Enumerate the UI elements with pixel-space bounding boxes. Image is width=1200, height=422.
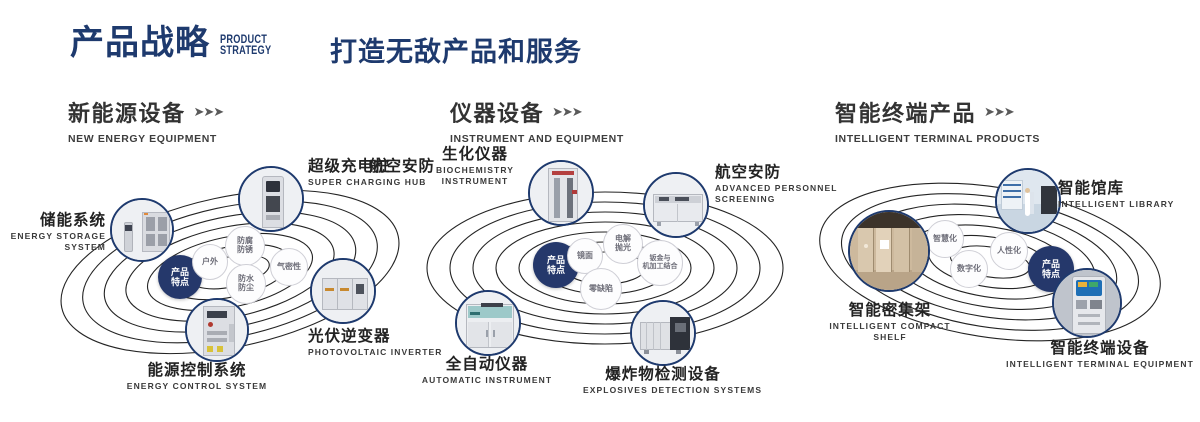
section-header-intelligent-terminal: 智能终端产品➤➤➤ INTELLIGENT TERMINAL PRODUCTS	[835, 96, 1040, 145]
node-compact-shelf[interactable]	[848, 210, 930, 292]
feature-bubble-sheetmetal: 钣金与 机加工结合	[637, 240, 683, 286]
label-energy-control: 能源控制系统 ENERGY CONTROL SYSTEM	[82, 362, 312, 392]
chevron-right-icon: ➤➤➤	[984, 104, 1014, 120]
security-gate-icon	[530, 162, 592, 224]
diagram-new-energy: 产品 特点 户外 防腐 防锈 气密性 防水 防尘 储能	[30, 150, 430, 395]
center-bubble-line1: 产品	[547, 255, 565, 265]
feature-bubble-anticorrosion: 防腐 防锈	[225, 226, 265, 266]
feature-label: 抛光	[615, 244, 631, 253]
diagram-instrument: 产品 特点 镜面 电解 抛光 钣金与 机加工结合 零缺陷 航空安防 生化仪器	[415, 150, 815, 395]
feature-bubble-waterproof: 防水 防尘	[226, 264, 266, 304]
label-explosives-detection: 爆炸物检测设备 EXPLOSIVES DETECTION SYSTEMS	[583, 366, 743, 396]
label-terminal-equipment: 智能终端设备 INTELLIGENT TERMINAL EQUIPMENT	[1000, 340, 1200, 370]
label-biochemistry-instrument: 生化仪器 BIOCHEMISTRY INSTRUMENT	[415, 146, 535, 186]
feature-bubble-airtightness: 气密性	[270, 248, 308, 286]
node-charging-hub[interactable]	[238, 166, 304, 232]
node-biochemistry-instrument[interactable]	[528, 160, 594, 226]
section-title-en: NEW ENERGY EQUIPMENT	[68, 133, 223, 145]
page-title-en-line2: STRATEGY	[220, 46, 271, 58]
center-bubble-line1: 产品	[1042, 259, 1060, 269]
feature-label: 数字化	[957, 265, 981, 274]
feature-bubble-humanized: 人性化	[990, 232, 1028, 270]
label-intelligent-library: 智能馆库 INTELLIGENT LIBRARY	[1058, 180, 1174, 210]
section-title-en: INTELLIGENT TERMINAL PRODUCTS	[835, 133, 1040, 145]
chevron-right-icon: ➤➤➤	[552, 104, 582, 120]
library-icon	[997, 170, 1059, 232]
section-title-cn: 新能源设备	[68, 96, 186, 128]
feature-bubble-zerodefect: 零缺陷	[580, 268, 622, 310]
compact-shelf-icon	[850, 212, 928, 290]
label-automatic-instrument: 全自动仪器 AUTOMATIC INSTRUMENT	[407, 356, 567, 386]
feature-label: 机加工结合	[643, 263, 678, 271]
kiosk-icon	[1054, 270, 1120, 336]
detector-icon	[632, 302, 694, 364]
inverter-icon	[312, 260, 374, 322]
node-personnel-screening[interactable]	[643, 172, 709, 238]
node-automatic-instrument[interactable]	[455, 290, 521, 356]
page-title: 产品战略 PRODUCT STRATEGY	[70, 26, 284, 60]
feature-label: 智慧化	[933, 235, 957, 244]
node-terminal-equipment[interactable]	[1052, 268, 1122, 338]
page-title-en: PRODUCT STRATEGY	[220, 35, 271, 58]
center-bubble-line1: 产品	[171, 267, 189, 277]
center-bubble-line2: 特点	[547, 265, 565, 275]
center-bubble-line2: 特点	[171, 277, 189, 287]
chevron-right-icon: ➤➤➤	[194, 104, 224, 120]
section-title-cn: 仪器设备	[450, 96, 544, 128]
auto-instrument-icon	[457, 292, 519, 354]
label-energy-storage: 储能系统 ENERGY STORAGE SYSTEM	[0, 212, 106, 252]
node-energy-control[interactable]	[185, 298, 249, 362]
analyzer-icon	[645, 174, 707, 236]
node-energy-storage[interactable]	[110, 198, 174, 262]
section-title-cn: 智能终端产品	[835, 96, 976, 128]
charging-pile-icon	[240, 168, 302, 230]
feature-bubble-outdoor: 户外	[192, 244, 228, 280]
page-subtitle: 打造无敌产品和服务	[330, 30, 582, 69]
feature-label: 户外	[202, 258, 218, 267]
page-title-en-line1: PRODUCT	[220, 35, 271, 47]
diagram-intelligent-terminal: 智慧化 数字化 人性化 产品 特点 智能馆库 INTELLIGENT LIBRA…	[800, 150, 1200, 395]
node-explosives-detection[interactable]	[630, 300, 696, 366]
page-title-cn: 产品战略	[70, 26, 210, 60]
feature-label: 人性化	[997, 247, 1021, 256]
feature-label: 钣金与	[643, 255, 678, 263]
feature-label: 气密性	[277, 263, 301, 272]
feature-label: 镜面	[577, 252, 593, 261]
feature-label: 防尘	[238, 284, 254, 293]
cabinet-storage-icon	[112, 200, 172, 260]
node-intelligent-library[interactable]	[995, 168, 1061, 234]
section-header-new-energy: 新能源设备➤➤➤ NEW ENERGY EQUIPMENT	[68, 96, 223, 145]
control-rack-icon	[187, 300, 247, 360]
label-compact-shelf: 智能密集架 INTELLIGENT COMPACT SHELF	[790, 302, 990, 342]
section-title-en: INSTRUMENT AND EQUIPMENT	[450, 133, 624, 145]
section-header-instrument: 仪器设备➤➤➤ INSTRUMENT AND EQUIPMENT	[450, 96, 624, 145]
feature-bubble-digital: 数字化	[950, 250, 988, 288]
node-pv-inverter[interactable]	[310, 258, 376, 324]
feature-label: 防锈	[237, 246, 253, 255]
feature-label: 零缺陷	[589, 285, 613, 294]
